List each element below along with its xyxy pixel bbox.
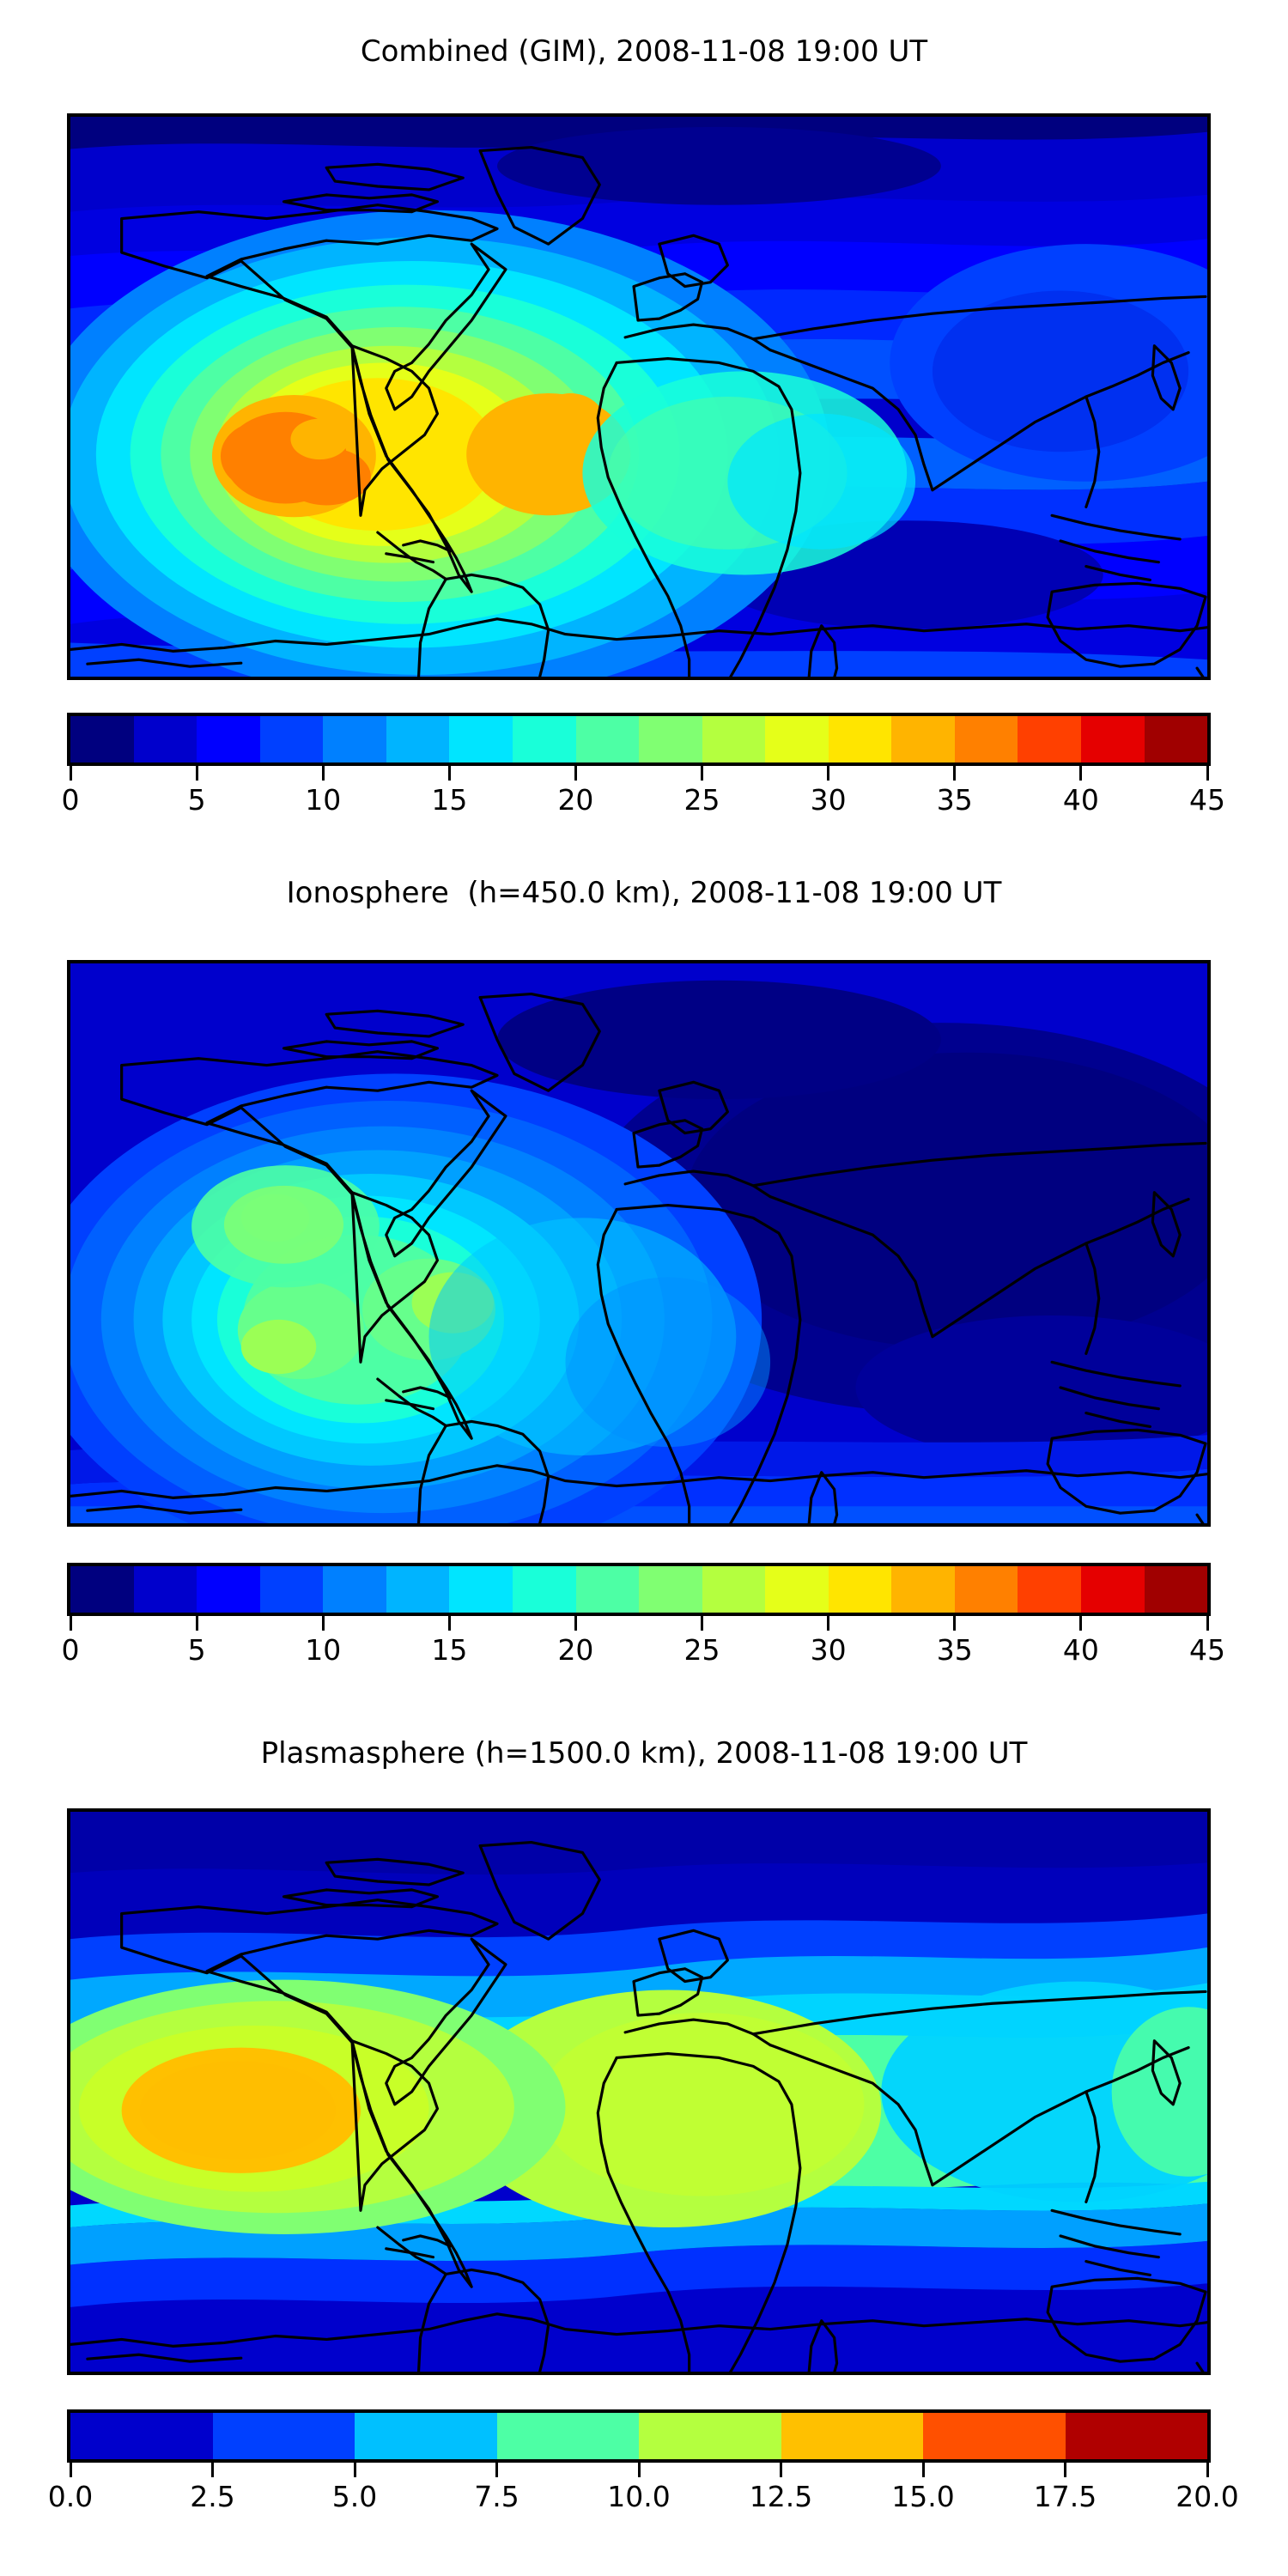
- map-ionosphere-svg: [70, 963, 1207, 1523]
- colorbar-segment: [449, 716, 513, 762]
- colorbar-segment: [639, 1566, 702, 1613]
- colorbar-segment: [639, 716, 702, 762]
- colorbar-tick: [574, 766, 577, 781]
- colorbar-tick-label: 10: [305, 783, 341, 817]
- colorbar-tick: [196, 1616, 198, 1631]
- colorbar-segment: [134, 1566, 197, 1613]
- colorbar-tick: [322, 766, 325, 781]
- contour-fill-ionosphere: [70, 963, 1207, 1523]
- panel-ionosphere: Ionosphere (h=450.0 km), 2008-11-08 19:0…: [0, 841, 1288, 1700]
- colorbar-tick-label: 20.0: [1176, 2480, 1238, 2513]
- colorbar-tick-label: 35: [937, 783, 973, 817]
- colorbar-segment: [955, 716, 1018, 762]
- colorbar-tick-label: 0: [62, 783, 80, 817]
- colorbar-segment: [323, 716, 386, 762]
- map-combined-svg: [70, 117, 1207, 677]
- colorbar-segment: [197, 716, 260, 762]
- colorbar-ionosphere-strip: [67, 1563, 1211, 1616]
- map-plasmasphere: [67, 1808, 1211, 2375]
- colorbar-tick: [70, 2463, 72, 2477]
- colorbar-tick-label: 15: [431, 783, 467, 817]
- colorbar-tick: [922, 2463, 925, 2477]
- colorbar-segment: [1018, 1566, 1081, 1613]
- colorbar-tick: [574, 1616, 577, 1631]
- colorbar-segment: [1066, 2413, 1208, 2459]
- colorbar-tick: [70, 766, 72, 781]
- map-plasmasphere-svg: [70, 1812, 1207, 2372]
- colorbar-tick: [953, 1616, 956, 1631]
- colorbar-combined: 051015202530354045: [67, 713, 1211, 826]
- colorbar-segment: [923, 2413, 1066, 2459]
- colorbar-segment: [197, 1566, 260, 1613]
- colorbar-tick: [638, 2463, 641, 2477]
- colorbar-tick: [953, 766, 956, 781]
- colorbar-tick-label: 5: [188, 1633, 206, 1667]
- colorbar-tick-label: 7.5: [474, 2480, 519, 2513]
- colorbar-tick-label: 25: [684, 783, 720, 817]
- colorbar-segment: [1081, 716, 1145, 762]
- colorbar-segment: [781, 2413, 924, 2459]
- colorbar-tick-label: 10: [305, 1633, 341, 1667]
- map-ionosphere: [67, 960, 1211, 1527]
- colorbar-tick: [211, 2463, 214, 2477]
- colorbar-segment: [513, 716, 576, 762]
- colorbar-tick: [448, 766, 451, 781]
- colorbar-segment: [213, 2413, 355, 2459]
- colorbar-tick-label: 10.0: [607, 2480, 670, 2513]
- colorbar-tick-label: 5: [188, 783, 206, 817]
- colorbar-tick-label: 45: [1189, 783, 1225, 817]
- colorbar-tick: [1079, 766, 1082, 781]
- colorbar-tick: [701, 1616, 703, 1631]
- colorbar-tick: [827, 766, 829, 781]
- colorbar-segment: [1145, 1566, 1208, 1613]
- colorbar-ionosphere: 051015202530354045: [67, 1563, 1211, 1676]
- colorbar-segment: [576, 1566, 640, 1613]
- colorbar-plasmasphere-axis: 0.02.55.07.510.012.515.017.520.0: [67, 2463, 1211, 2523]
- colorbar-segment: [134, 716, 197, 762]
- contour-fill-plasmasphere: [70, 1812, 1207, 2372]
- colorbar-segment: [497, 2413, 640, 2459]
- colorbar-tick-label: 25: [684, 1633, 720, 1667]
- colorbar-tick-label: 35: [937, 1633, 973, 1667]
- colorbar-tick-label: 30: [811, 783, 847, 817]
- colorbar-tick-label: 5.0: [332, 2480, 377, 2513]
- colorbar-segment: [955, 1566, 1018, 1613]
- panel-title-plasmasphere: Plasmasphere (h=1500.0 km), 2008-11-08 1…: [0, 1736, 1288, 1771]
- colorbar-tick: [495, 2463, 498, 2477]
- map-combined: [67, 113, 1211, 680]
- colorbar-combined-strip: [67, 713, 1211, 766]
- colorbar-tick-label: 2.5: [190, 2480, 234, 2513]
- colorbar-tick-label: 15.0: [891, 2480, 954, 2513]
- colorbar-tick: [196, 766, 198, 781]
- colorbar-tick-label: 15: [431, 1633, 467, 1667]
- colorbar-segment: [1081, 1566, 1145, 1613]
- colorbar-segment: [70, 1566, 134, 1613]
- colorbar-segment: [576, 716, 640, 762]
- colorbar-tick: [701, 766, 703, 781]
- colorbar-tick-label: 0: [62, 1633, 80, 1667]
- colorbar-tick-label: 45: [1189, 1633, 1225, 1667]
- colorbar-segment: [70, 716, 134, 762]
- colorbar-segment: [891, 716, 955, 762]
- contour-fill-combined: [70, 117, 1207, 677]
- colorbar-segment: [702, 716, 766, 762]
- colorbar-segment: [702, 1566, 766, 1613]
- colorbar-tick: [827, 1616, 829, 1631]
- colorbar-combined-axis: 051015202530354045: [67, 766, 1211, 826]
- colorbar-segment: [386, 716, 450, 762]
- colorbar-segment: [70, 2413, 213, 2459]
- colorbar-segment: [323, 1566, 386, 1613]
- colorbar-tick-label: 17.5: [1034, 2480, 1097, 2513]
- colorbar-tick: [322, 1616, 325, 1631]
- colorbar-segment: [513, 1566, 576, 1613]
- colorbar-tick: [1079, 1616, 1082, 1631]
- colorbar-plasmasphere-strip: [67, 2409, 1211, 2463]
- colorbar-tick: [1206, 766, 1209, 781]
- colorbar-ionosphere-axis: 051015202530354045: [67, 1616, 1211, 1676]
- colorbar-tick: [1206, 2463, 1209, 2477]
- colorbar-segment: [355, 2413, 497, 2459]
- colorbar-segment: [449, 1566, 513, 1613]
- panel-combined: Combined (GIM), 2008-11-08 19:00 UT: [0, 0, 1288, 841]
- colorbar-tick-label: 0.0: [48, 2480, 93, 2513]
- colorbar-segment: [1018, 716, 1081, 762]
- colorbar-tick-label: 30: [811, 1633, 847, 1667]
- colorbar-tick: [1206, 1616, 1209, 1631]
- colorbar-plasmasphere: 0.02.55.07.510.012.515.017.520.0: [67, 2409, 1211, 2523]
- colorbar-tick-label: 40: [1063, 783, 1099, 817]
- colorbar-segment: [260, 1566, 324, 1613]
- colorbar-tick-label: 12.5: [750, 2480, 812, 2513]
- colorbar-segment: [829, 1566, 892, 1613]
- figure-canvas: Combined (GIM), 2008-11-08 19:00 UT: [0, 0, 1288, 2576]
- colorbar-segment: [260, 716, 324, 762]
- colorbar-tick-label: 40: [1063, 1633, 1099, 1667]
- panel-plasmasphere: Plasmasphere (h=1500.0 km), 2008-11-08 1…: [0, 1700, 1288, 2576]
- colorbar-tick: [354, 2463, 356, 2477]
- colorbar-segment: [765, 1566, 829, 1613]
- colorbar-segment: [386, 1566, 450, 1613]
- colorbar-tick: [780, 2463, 782, 2477]
- colorbar-tick: [1064, 2463, 1066, 2477]
- colorbar-tick-label: 20: [557, 783, 593, 817]
- colorbar-segment: [765, 716, 829, 762]
- colorbar-segment: [891, 1566, 955, 1613]
- colorbar-segment: [1145, 716, 1208, 762]
- colorbar-tick-label: 20: [557, 1633, 593, 1667]
- colorbar-segment: [829, 716, 892, 762]
- colorbar-segment: [639, 2413, 781, 2459]
- panel-title-ionosphere: Ionosphere (h=450.0 km), 2008-11-08 19:0…: [0, 876, 1288, 910]
- panel-title-combined: Combined (GIM), 2008-11-08 19:00 UT: [0, 34, 1288, 69]
- colorbar-tick: [448, 1616, 451, 1631]
- colorbar-tick: [70, 1616, 72, 1631]
